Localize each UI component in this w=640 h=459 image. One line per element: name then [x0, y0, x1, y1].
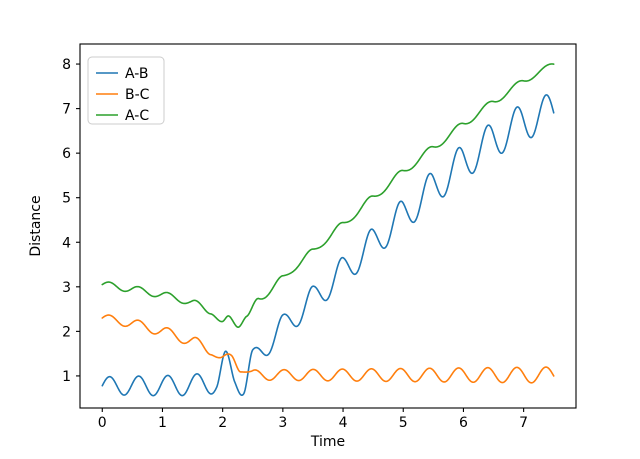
- x-tick-label: 4: [339, 415, 348, 431]
- x-tick-label: 1: [158, 415, 167, 431]
- y-tick-label: 5: [62, 191, 71, 207]
- y-tick-label: 3: [62, 280, 71, 296]
- legend-label-b-c: B-C: [125, 87, 150, 103]
- line-chart: 01234567 12345678 Time Distance A-BB-CA-…: [0, 0, 640, 459]
- x-tick-label: 7: [519, 415, 528, 431]
- y-tick-label: 8: [62, 57, 71, 73]
- figure-canvas: 01234567 12345678 Time Distance A-BB-CA-…: [0, 0, 640, 459]
- x-tick-label: 5: [399, 415, 408, 431]
- legend-label-a-c: A-C: [125, 108, 149, 124]
- x-tick-label: 3: [278, 415, 287, 431]
- x-tick-label: 6: [459, 415, 468, 431]
- y-tick-label: 2: [62, 324, 71, 340]
- legend: A-BB-CA-C: [88, 57, 164, 124]
- x-axis-ticks: 01234567: [98, 408, 528, 431]
- y-tick-label: 6: [62, 146, 71, 162]
- y-axis-label: Distance: [28, 195, 44, 256]
- x-tick-label: 2: [218, 415, 227, 431]
- legend-label-a-b: A-B: [125, 66, 148, 82]
- y-tick-label: 4: [62, 235, 71, 251]
- y-axis-ticks: 12345678: [62, 57, 80, 385]
- y-tick-label: 7: [62, 102, 71, 118]
- y-tick-label: 1: [62, 369, 71, 385]
- x-axis-label: Time: [310, 434, 345, 450]
- x-tick-label: 0: [98, 415, 107, 431]
